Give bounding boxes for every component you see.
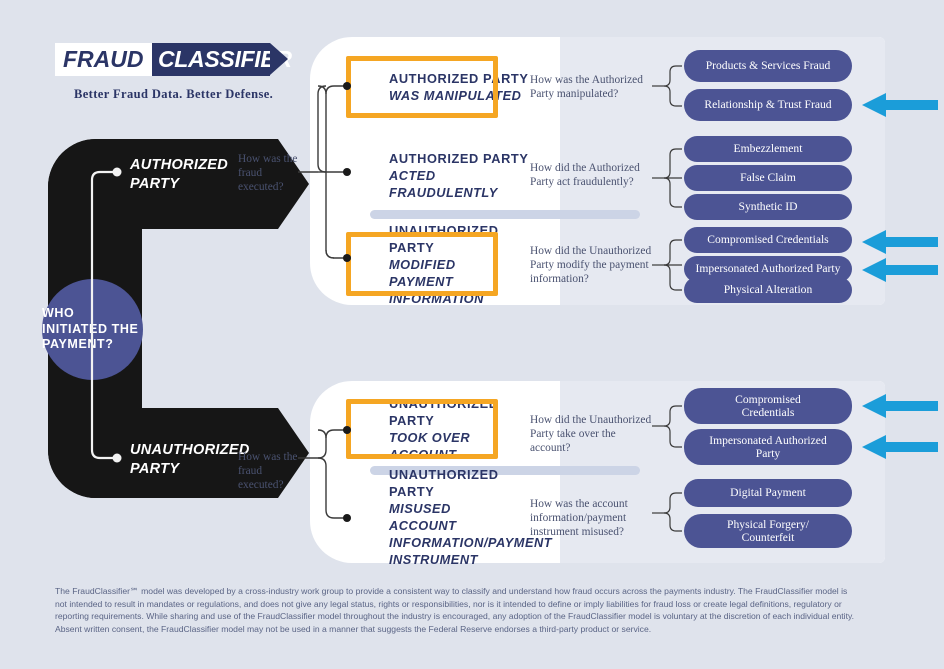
outcome-label: Compromised Credentials: [707, 233, 828, 247]
question-authorized-manipulated: How was the Authorized Party manipulated…: [530, 73, 650, 101]
outcome-label: Impersonated Authorized Party: [696, 262, 841, 276]
outcome-products-services-fraud[interactable]: Products & Services Fraud: [684, 50, 852, 82]
logo-bar: FRAUD CLASSIFIER: [55, 43, 270, 76]
party-question-unauthorized: How was the fraud executed?: [238, 450, 308, 492]
category-line2: ACTED FRAUDULENTLY: [389, 167, 530, 201]
category-line2: MISUSED ACCOUNT INFORMATION/PAYMENT INST…: [389, 500, 501, 568]
logo-classifier-block: CLASSIFIER: [152, 43, 270, 76]
outcome-embezzlement[interactable]: Embezzlement: [684, 136, 852, 162]
outcome-label: Compromised Credentials: [708, 393, 828, 420]
outcome-label: Relationship & Trust Fraud: [704, 98, 831, 112]
highlight-box-authorized-manipulated: [346, 56, 498, 118]
party-question-authorized: How was the fraud executed?: [238, 152, 308, 194]
category-authorized-acted-fraudulently[interactable]: AUTHORIZED PARTY ACTED FRAUDULENTLY: [345, 143, 530, 207]
highlight-box-unauthorized-took-over-account: [346, 399, 498, 459]
category-text: UNAUTHORIZED PARTY MISUSED ACCOUNT INFOR…: [389, 478, 530, 556]
group-separator-band-1: [370, 210, 640, 219]
category-text: AUTHORIZED PARTY ACTED FRAUDULENTLY: [389, 143, 530, 207]
outcome-digital-payment[interactable]: Digital Payment: [684, 479, 852, 507]
outcome-compromised-credentials-1[interactable]: Compromised Credentials: [684, 227, 852, 253]
unauthorized-party-text: UNAUTHORIZED PARTY: [130, 442, 250, 477]
logo-arrow-point-icon: [270, 43, 288, 75]
cyan-arrow-relationship-trust-fraud: [862, 91, 938, 119]
question-unauthorized-took-over-account: How did the Unauthorized Party take over…: [530, 413, 655, 455]
category-unauthorized-misused-account[interactable]: UNAUTHORIZED PARTY MISUSED ACCOUNT INFOR…: [345, 478, 530, 556]
root-question-circle[interactable]: WHO INITIATED THE PAYMENT?: [42, 279, 143, 380]
category-line1: UNAUTHORIZED PARTY: [389, 466, 530, 500]
cyan-arrow-compromised-credentials-1: [862, 228, 938, 256]
unauthorized-party-label: UNAUTHORIZED PARTY: [130, 441, 250, 479]
fraudclassifier-diagram: FRAUD CLASSIFIER Better Fraud Data. Bett…: [0, 0, 944, 669]
cyan-arrow-impersonated-authorized-party-1: [862, 256, 938, 284]
question-unauthorized-modified-payment: How did the Unauthorized Party modify th…: [530, 244, 655, 286]
cyan-arrow-impersonated-authorized-party-2: [862, 433, 938, 461]
outcome-label: Synthetic ID: [739, 200, 798, 214]
outcome-label: Digital Payment: [730, 486, 806, 500]
logo-tagline: Better Fraud Data. Better Defense.: [74, 87, 273, 102]
outcome-label: False Claim: [740, 171, 796, 185]
authorized-party-text: AUTHORIZED PARTY: [130, 157, 228, 192]
logo-fraud-block: FRAUD: [55, 43, 152, 76]
root-question-text: WHO INITIATED THE PAYMENT?: [42, 306, 143, 353]
outcome-label: Impersonated Authorized Party: [708, 434, 828, 461]
outcome-relationship-trust-fraud[interactable]: Relationship & Trust Fraud: [684, 89, 852, 121]
outcome-compromised-credentials-2[interactable]: Compromised Credentials: [684, 388, 852, 424]
outcome-label: Physical Forgery/ Counterfeit: [713, 518, 823, 545]
outcome-false-claim[interactable]: False Claim: [684, 165, 852, 191]
question-authorized-acted-fraudulently: How did the Authorized Party act fraudul…: [530, 161, 650, 189]
outcome-impersonated-authorized-party-2[interactable]: Impersonated Authorized Party: [684, 429, 852, 465]
logo-fraud-text: FRAUD: [63, 46, 144, 73]
outcome-synthetic-id[interactable]: Synthetic ID: [684, 194, 852, 220]
outcome-physical-alteration[interactable]: Physical Alteration: [684, 277, 852, 303]
fraudclassifier-logo: FRAUD CLASSIFIER Better Fraud Data. Bett…: [55, 43, 320, 103]
highlight-box-unauthorized-modified-payment: [346, 232, 498, 296]
outcome-label: Physical Alteration: [724, 283, 813, 297]
question-unauthorized-misused-account: How was the account information/payment …: [530, 497, 652, 539]
footer-disclaimer: The FraudClassifier℠ model was developed…: [55, 585, 855, 635]
outcome-label: Products & Services Fraud: [706, 59, 831, 73]
outcome-physical-forgery-counterfeit[interactable]: Physical Forgery/ Counterfeit: [684, 514, 852, 548]
outcome-label: Embezzlement: [734, 142, 803, 156]
category-line1: AUTHORIZED PARTY: [389, 150, 530, 167]
cyan-arrow-compromised-credentials-2: [862, 392, 938, 420]
authorized-party-label: AUTHORIZED PARTY: [130, 156, 250, 194]
